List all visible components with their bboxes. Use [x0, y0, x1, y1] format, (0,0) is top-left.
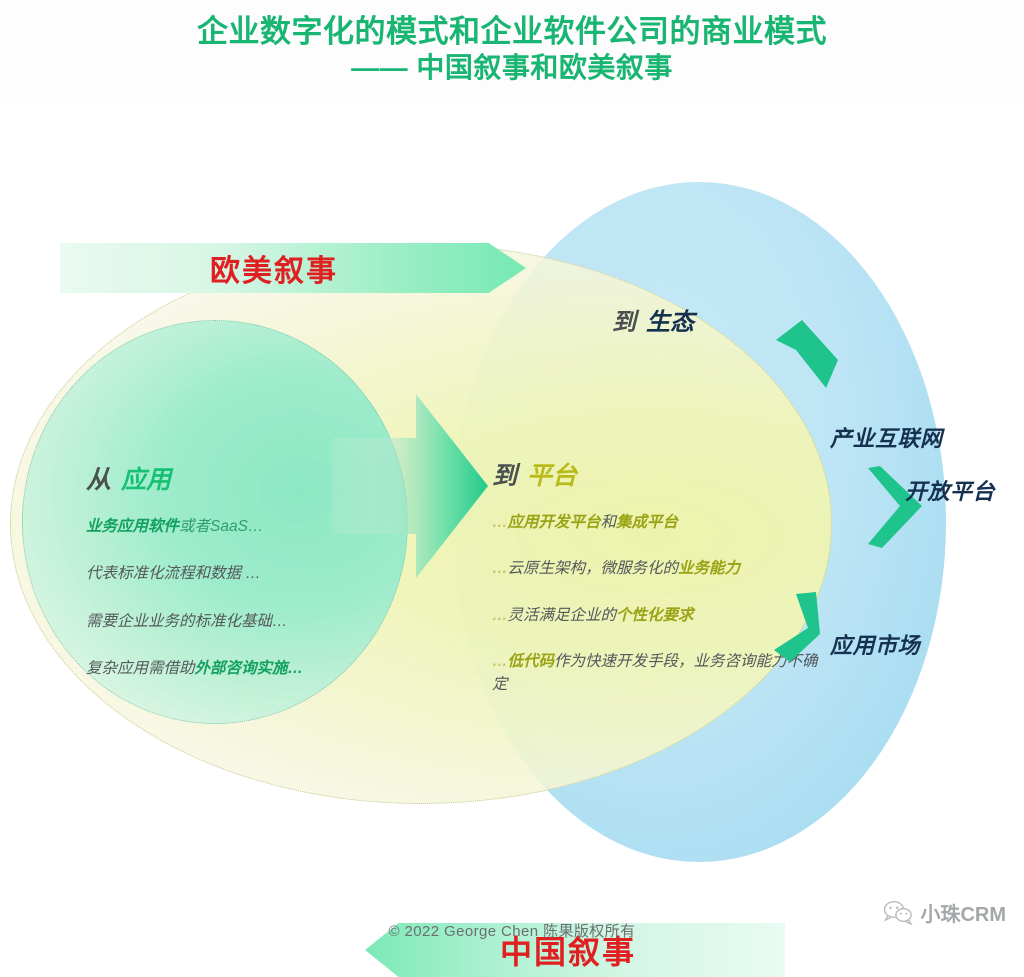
application-bullet-1: 业务应用软件或者SaaS… — [86, 516, 368, 538]
platform-bullet-2: …云原生架构，微服务化的业务能力 — [492, 558, 822, 580]
banner-western-narrative: 欧美叙事 — [60, 243, 526, 293]
platform-bullet-4-strong: 低代码 — [508, 653, 555, 670]
platform-heading-keyword: 平台 — [527, 462, 577, 490]
platform-bullet-1-dots: … — [492, 514, 508, 531]
application-bullet-2-text: 代表标准化流程和数据 … — [86, 565, 261, 582]
platform-bullet-2-pre: 云原生架构，微服务化的 — [508, 560, 679, 577]
platform-bullet-3-strong: 个性化要求 — [616, 607, 694, 624]
output-label-app-market: 应用市场 — [830, 628, 920, 660]
stage-platform-content: 到平台 …应用开发平台和集成平台 …云原生架构，微服务化的业务能力 …灵活满足企… — [492, 456, 822, 720]
chevron-up-right-icon-1 — [772, 316, 842, 396]
platform-bullet-1-strong: 应用开发平台 — [508, 514, 601, 531]
output-label-industrial-internet: 产业互联网 — [830, 421, 943, 453]
page-header: 企业数字化的模式和企业软件公司的商业模式 —— 中国叙事和欧美叙事 — [0, 0, 1024, 104]
title-line-2: —— 中国叙事和欧美叙事 — [0, 51, 1024, 84]
ecosystem-heading-prefix: 到 — [612, 309, 636, 336]
platform-bullet-3-pre: 灵活满足企业的 — [508, 607, 617, 624]
platform-bullet-1-mid: 和 — [601, 514, 617, 531]
application-bullet-3: 需要企业业务的标准化基础… — [86, 611, 368, 633]
copyright-footer: © 2022 George Chen 陈果版权所有 — [0, 920, 1024, 941]
application-bullet-4-pre: 复杂应用需借助 — [86, 660, 195, 677]
page-title: 企业数字化的模式和企业软件公司的商业模式 —— 中国叙事和欧美叙事 — [0, 14, 1024, 84]
application-bullet-3-text: 需要企业业务的标准化基础… — [86, 613, 288, 630]
platform-bullet-4-dots: … — [492, 653, 508, 670]
application-bullet-4-strong: 外部咨询实施… — [195, 660, 304, 677]
application-heading: 从应用 — [86, 460, 368, 496]
platform-bullet-2-strong: 业务能力 — [678, 560, 740, 577]
application-bullet-1-strong: 业务应用软件 — [86, 518, 179, 535]
platform-heading: 到平台 — [492, 456, 822, 492]
application-heading-keyword: 应用 — [121, 466, 171, 494]
output-label-open-platform: 开放平台 — [905, 474, 995, 506]
diagram-canvas: 从应用 业务应用软件或者SaaS… 代表标准化流程和数据 … 需要企业业务的标准… — [0, 104, 1024, 894]
platform-bullet-2-dots: … — [492, 560, 508, 577]
wechat-icon — [883, 900, 913, 926]
watermark-text: 小珠CRM — [920, 898, 1006, 927]
ecosystem-heading-keyword: 生态 — [646, 309, 694, 336]
platform-bullet-1-strong2: 集成平台 — [616, 514, 678, 531]
application-heading-prefix: 从 — [86, 466, 111, 494]
application-bullet-4: 复杂应用需借助外部咨询实施… — [86, 658, 368, 680]
banner-western-narrative-label: 欧美叙事 — [210, 246, 338, 290]
platform-bullet-3-dots: … — [492, 607, 508, 624]
application-bullet-2: 代表标准化流程和数据 … — [86, 563, 368, 585]
title-line-1: 企业数字化的模式和企业软件公司的商业模式 — [0, 14, 1024, 51]
watermark: 小珠CRM — [883, 898, 1006, 927]
application-bullet-1-rest: 或者SaaS… — [179, 518, 263, 535]
platform-heading-prefix: 到 — [492, 462, 517, 490]
platform-bullet-1: …应用开发平台和集成平台 — [492, 512, 822, 534]
stage-application-content: 从应用 业务应用软件或者SaaS… 代表标准化流程和数据 … 需要企业业务的标准… — [86, 460, 368, 706]
ecosystem-heading: 到生态 — [612, 302, 694, 337]
